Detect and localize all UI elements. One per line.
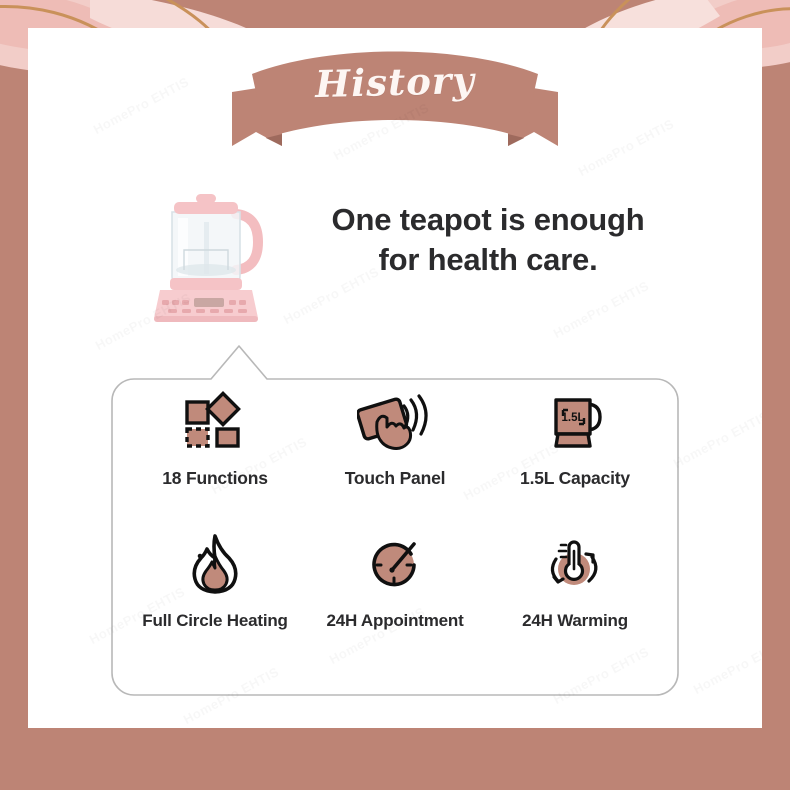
hero-section: One teapot is enough for health care. xyxy=(28,164,762,346)
feature-label: Full Circle Heating xyxy=(142,611,287,631)
features-row-1: 18 Functions xyxy=(125,390,665,489)
watermark-text: HomePro EHTIS xyxy=(91,74,192,137)
features-row-2: Full Circle Heating xyxy=(125,533,665,631)
feature-label: 24H Warming xyxy=(522,611,628,631)
feature-full-circle-heating[interactable]: Full Circle Heating xyxy=(125,533,305,631)
page-title: One teapot is enough for health care. xyxy=(278,200,698,279)
capacity-badge: 1.5L xyxy=(561,412,584,424)
content-sheet: History xyxy=(28,28,762,728)
feature-18-functions[interactable]: 18 Functions xyxy=(125,390,305,489)
feature-capacity[interactable]: 1.5L 1.5L Capacity xyxy=(485,390,665,489)
feature-label: 1.5L Capacity xyxy=(520,468,630,489)
feature-warming[interactable]: 24H Warming xyxy=(485,533,665,631)
feature-touch-panel[interactable]: Touch Panel xyxy=(305,390,485,489)
flame-icon xyxy=(186,533,244,595)
feature-label: 18 Functions xyxy=(162,468,268,489)
thermometer-rotate-icon xyxy=(543,533,607,595)
watermark-text: HomePro EHTIS xyxy=(671,408,762,471)
clock-timer-icon xyxy=(364,533,426,595)
touch-panel-hand-icon xyxy=(357,390,433,452)
product-image xyxy=(144,178,274,328)
feature-appointment[interactable]: 24H Appointment xyxy=(305,533,485,631)
pitcher-capacity-icon: 1.5L xyxy=(544,390,606,452)
product-infographic-page: History xyxy=(0,0,790,790)
headline-line-2: for health care. xyxy=(278,240,698,280)
features-grid: 18 Functions xyxy=(111,344,679,696)
headline-line-1: One teapot is enough xyxy=(278,200,698,240)
functions-squares-icon xyxy=(184,390,246,452)
feature-label: Touch Panel xyxy=(345,468,446,489)
features-card: 18 Functions xyxy=(111,344,679,696)
feature-label: 24H Appointment xyxy=(326,611,463,631)
history-banner: History xyxy=(230,34,560,166)
watermark-text: HomePro EHTIS xyxy=(691,634,762,697)
banner-title: History xyxy=(229,56,560,109)
